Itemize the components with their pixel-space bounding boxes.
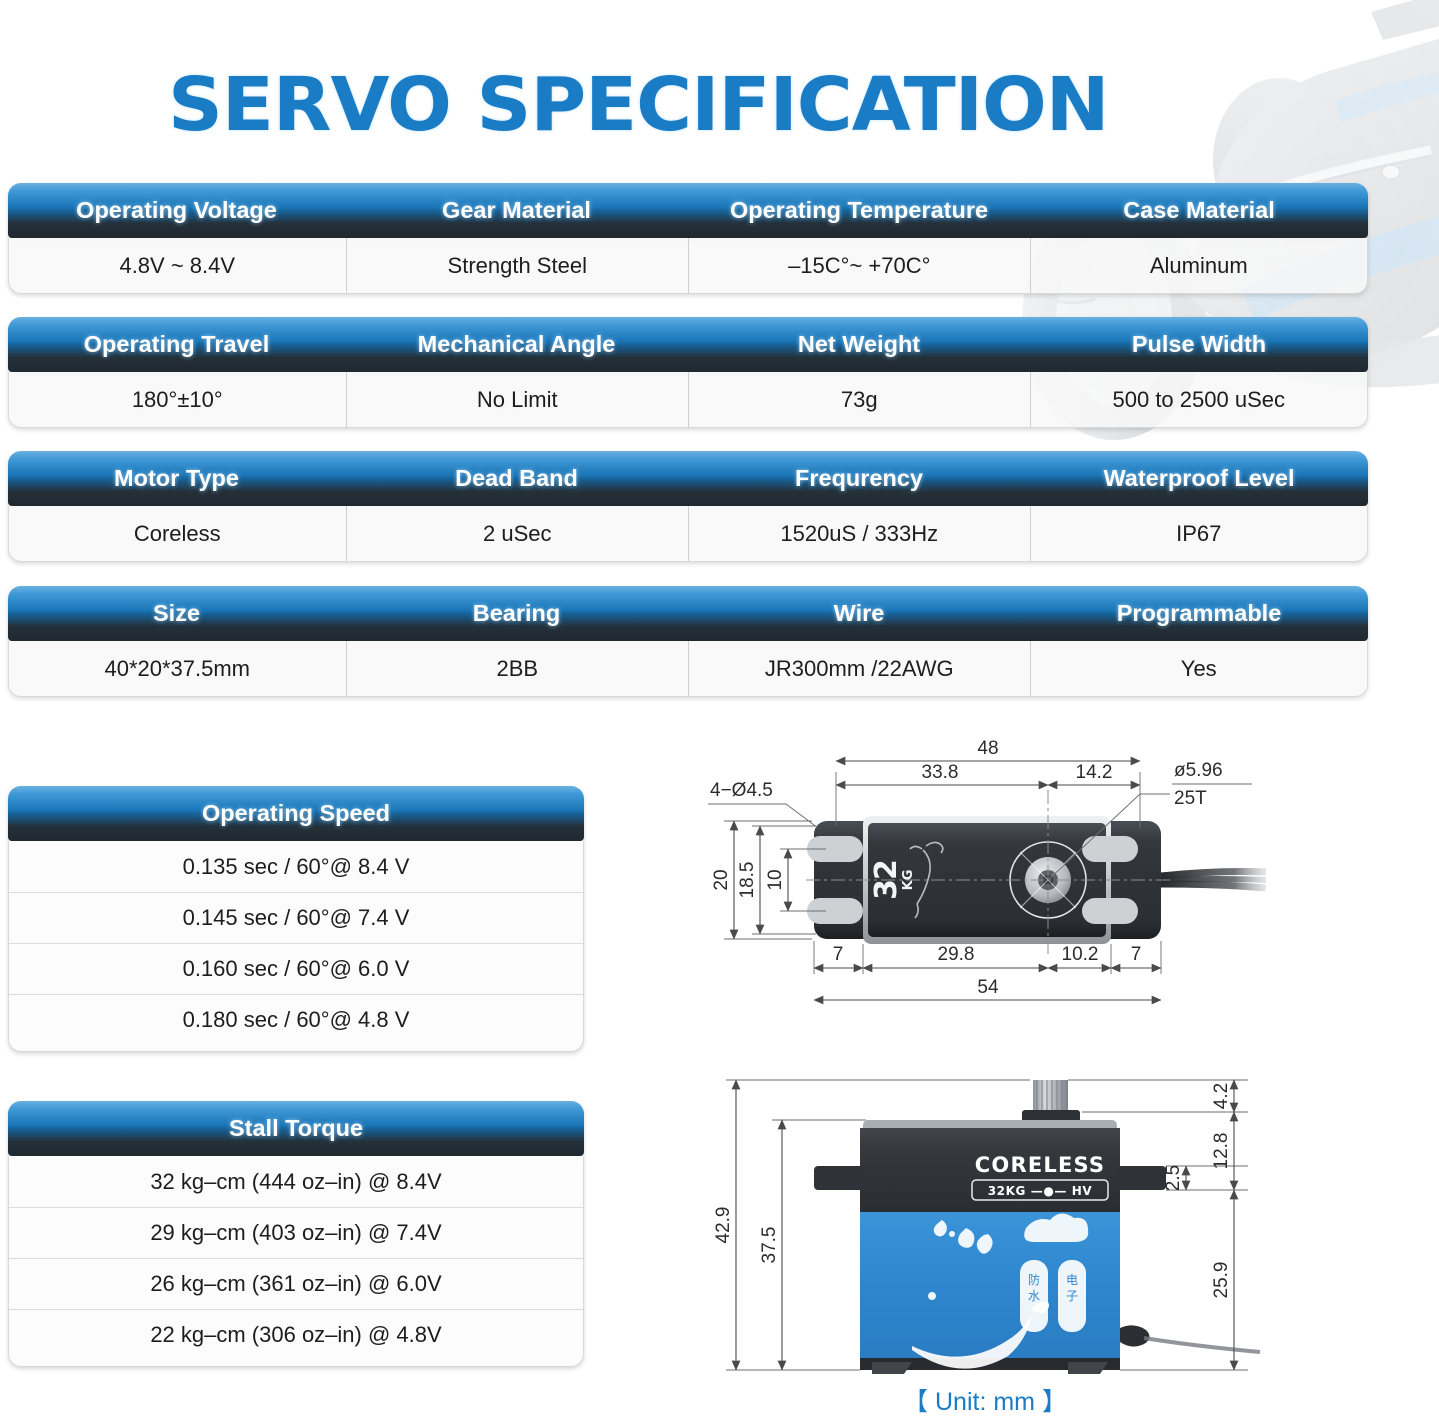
spec-table-2-header-row: Operating Travel Mechanical Angle Net We… bbox=[8, 317, 1368, 372]
spec-header-operating-temperature: Operating Temperature bbox=[688, 197, 1030, 224]
spec-header-size: Size bbox=[8, 600, 345, 627]
operating-speed-row: 0.145 sec / 60°@ 7.4 V bbox=[9, 892, 583, 943]
stall-torque-row: 26 kg–cm (361 oz–in) @ 6.0V bbox=[9, 1258, 583, 1309]
spec-header-waterproof-level: Waterproof Level bbox=[1030, 465, 1368, 492]
stall-torque-row: 29 kg–cm (403 oz–in) @ 7.4V bbox=[9, 1207, 583, 1258]
page-title: SERVO SPECIFICATION bbox=[168, 62, 1109, 148]
servo-top-view-drawing: 32 KG 48 33.8 14.2 ø5.96 25T 4−Ø4.5 20 bbox=[700, 728, 1270, 1028]
operating-speed-header: Operating Speed bbox=[8, 786, 584, 841]
spec-table-1-value-row: 4.8V ~ 8.4V Strength Steel –15C°~ +70C° … bbox=[8, 238, 1368, 294]
spec-value-operating-voltage: 4.8V ~ 8.4V bbox=[9, 238, 346, 293]
spec-table-3-value-row: Coreless 2 uSec 1520uS / 333Hz IP67 bbox=[8, 506, 1368, 562]
svg-text:水: 水 bbox=[1028, 1289, 1040, 1303]
spec-table-2-value-row: 180°±10° No Limit 73g 500 to 2500 uSec bbox=[8, 372, 1368, 428]
dim-overall-height: 20 bbox=[711, 869, 732, 890]
spec-value-operating-travel: 180°±10° bbox=[9, 372, 346, 427]
operating-speed-body: 0.135 sec / 60°@ 8.4 V 0.145 sec / 60°@ … bbox=[8, 841, 584, 1052]
operating-speed-row: 0.135 sec / 60°@ 8.4 V bbox=[9, 841, 583, 892]
dim-mount-holes: 4−Ø4.5 bbox=[710, 780, 773, 801]
dim-mid-right: 10.2 bbox=[1062, 944, 1099, 965]
spec-value-pulse-width: 500 to 2500 uSec bbox=[1030, 372, 1368, 427]
servo-badge-label: 32KG —●— HV bbox=[988, 1184, 1093, 1198]
dim-mount-height: 18.5 bbox=[737, 862, 758, 899]
dim-total-height: 42.9 bbox=[713, 1207, 734, 1244]
spec-header-bearing: Bearing bbox=[345, 600, 688, 627]
spec-header-case-material: Case Material bbox=[1030, 197, 1368, 224]
spec-header-gear-material: Gear Material bbox=[345, 197, 688, 224]
spec-header-frequency: Frequrency bbox=[688, 465, 1030, 492]
unit-label: 【 Unit: mm 】 bbox=[903, 1388, 1067, 1416]
dim-spline-diameter: ø5.96 bbox=[1174, 760, 1223, 781]
operating-speed-row: 0.180 sec / 60°@ 4.8 V bbox=[9, 994, 583, 1045]
spec-value-mechanical-angle: No Limit bbox=[346, 372, 689, 427]
dim-lower-section: 25.9 bbox=[1211, 1262, 1232, 1299]
stall-torque-table: Stall Torque 32 kg–cm (444 oz–in) @ 8.4V… bbox=[8, 1101, 584, 1367]
svg-text:电: 电 bbox=[1066, 1273, 1078, 1287]
spec-header-motor-type: Motor Type bbox=[8, 465, 345, 492]
spec-header-wire: Wire bbox=[688, 600, 1030, 627]
spec-table-4: Size Bearing Wire Programmable 40*20*37.… bbox=[8, 586, 1368, 697]
spec-header-dead-band: Dead Band bbox=[345, 465, 688, 492]
dim-total-length: 54 bbox=[977, 977, 999, 998]
spec-table-2: Operating Travel Mechanical Angle Net We… bbox=[8, 317, 1368, 428]
spec-value-size: 40*20*37.5mm bbox=[9, 641, 346, 696]
spec-table-3: Motor Type Dead Band Frequrency Waterpro… bbox=[8, 451, 1368, 562]
stall-torque-body: 32 kg–cm (444 oz–in) @ 8.4V 29 kg–cm (40… bbox=[8, 1156, 584, 1367]
dim-overall-width: 48 bbox=[977, 738, 998, 759]
spec-value-motor-type: Coreless bbox=[9, 506, 346, 561]
spec-header-net-weight: Net Weight bbox=[688, 331, 1030, 358]
dim-tab-thickness: 2.5 bbox=[1163, 1165, 1184, 1191]
stall-torque-row: 22 kg–cm (306 oz–in) @ 4.8V bbox=[9, 1309, 583, 1360]
spec-value-waterproof-level: IP67 bbox=[1030, 506, 1368, 561]
svg-text:子: 子 bbox=[1066, 1289, 1078, 1303]
dim-spline-height: 4.2 bbox=[1211, 1083, 1232, 1109]
dim-hole-pitch: 10 bbox=[765, 869, 786, 890]
dim-upper-section: 12.8 bbox=[1211, 1133, 1232, 1170]
spec-table-1: Operating Voltage Gear Material Operatin… bbox=[8, 183, 1368, 294]
servo-side-view-drawing: CORELESS 32KG —●— HV 防水 电子 42.9 37.5 bbox=[700, 1028, 1270, 1423]
stall-torque-title: Stall Torque bbox=[8, 1115, 584, 1142]
dim-tab-right: 7 bbox=[1131, 944, 1142, 965]
operating-speed-title: Operating Speed bbox=[8, 800, 584, 827]
spec-header-operating-travel: Operating Travel bbox=[8, 331, 345, 358]
spec-value-case-material: Aluminum bbox=[1030, 238, 1368, 293]
spec-table-4-header-row: Size Bearing Wire Programmable bbox=[8, 586, 1368, 641]
spec-value-frequency: 1520uS / 333Hz bbox=[688, 506, 1030, 561]
spec-value-programmable: Yes bbox=[1030, 641, 1368, 696]
svg-text:防: 防 bbox=[1028, 1272, 1040, 1287]
spec-header-programmable: Programmable bbox=[1030, 600, 1368, 627]
dim-right-span: 14.2 bbox=[1076, 762, 1113, 783]
dim-tab-left: 7 bbox=[833, 944, 844, 965]
operating-speed-row: 0.160 sec / 60°@ 6.0 V bbox=[9, 943, 583, 994]
dim-spline-teeth: 25T bbox=[1174, 788, 1207, 809]
spec-value-dead-band: 2 uSec bbox=[346, 506, 689, 561]
spec-value-net-weight: 73g bbox=[688, 372, 1030, 427]
dim-case-height: 37.5 bbox=[759, 1227, 780, 1264]
spec-table-4-value-row: 40*20*37.5mm 2BB JR300mm /22AWG Yes bbox=[8, 641, 1368, 697]
spec-table-1-header-row: Operating Voltage Gear Material Operatin… bbox=[8, 183, 1368, 238]
spec-header-operating-voltage: Operating Voltage bbox=[8, 197, 345, 224]
spec-value-wire: JR300mm /22AWG bbox=[688, 641, 1030, 696]
servo-brand-label: CORELESS bbox=[975, 1153, 1105, 1177]
spec-value-gear-material: Strength Steel bbox=[346, 238, 689, 293]
dim-left-span: 33.8 bbox=[922, 762, 959, 783]
spec-value-bearing: 2BB bbox=[346, 641, 689, 696]
spec-header-mechanical-angle: Mechanical Angle bbox=[345, 331, 688, 358]
spec-header-pulse-width: Pulse Width bbox=[1030, 331, 1368, 358]
spec-table-3-header-row: Motor Type Dead Band Frequrency Waterpro… bbox=[8, 451, 1368, 506]
stall-torque-row: 32 kg–cm (444 oz–in) @ 8.4V bbox=[9, 1156, 583, 1207]
operating-speed-table: Operating Speed 0.135 sec / 60°@ 8.4 V 0… bbox=[8, 786, 584, 1052]
dim-body-length: 29.8 bbox=[938, 944, 975, 965]
spec-value-operating-temperature: –15C°~ +70C° bbox=[688, 238, 1030, 293]
stall-torque-header: Stall Torque bbox=[8, 1101, 584, 1156]
